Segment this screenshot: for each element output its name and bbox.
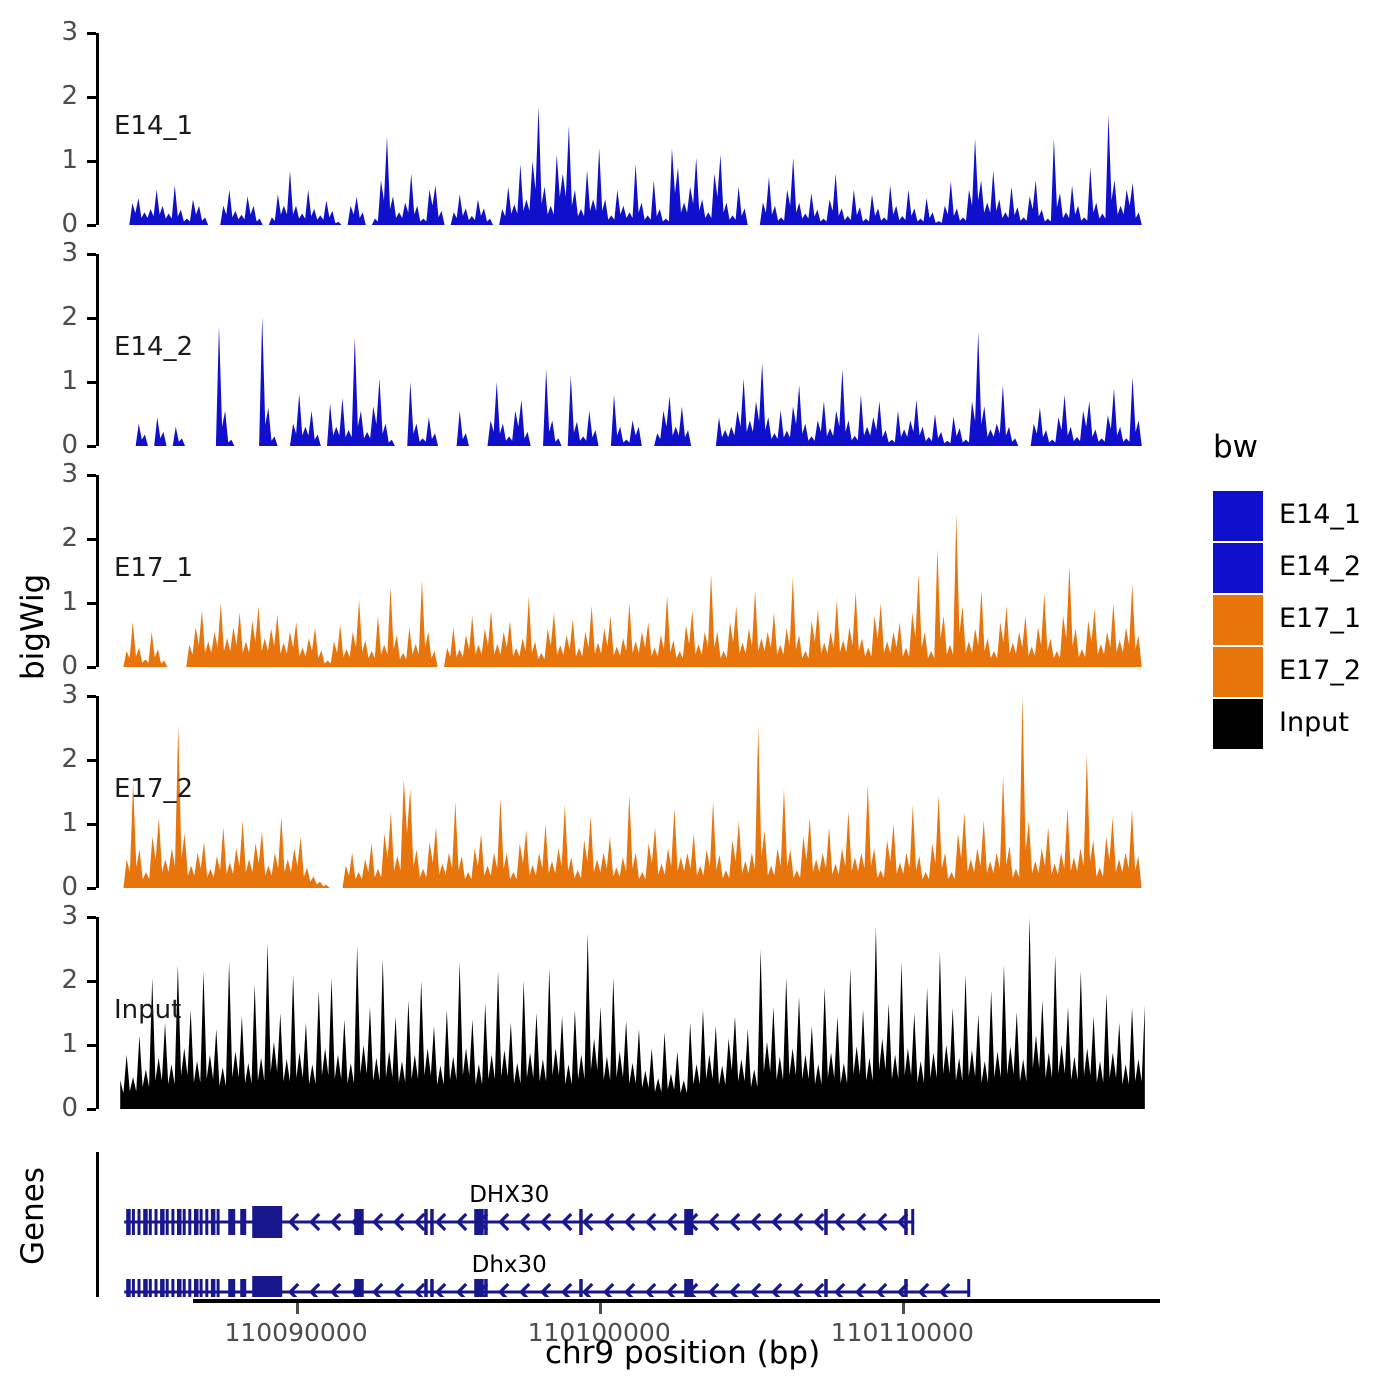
- y-axis-tick-label: 0: [38, 1095, 78, 1121]
- y-axis-tick-label: 1: [38, 147, 78, 173]
- y-axis-tick-label: 1: [38, 1031, 78, 1057]
- y-axis-tick-label: 1: [38, 368, 78, 394]
- signal-area-e17_1: [99, 475, 1160, 667]
- signal-area-e14_2: [99, 254, 1160, 446]
- gene-model-dhx30[interactable]: [124, 1276, 970, 1297]
- y-axis-tick-label: 3: [38, 903, 78, 929]
- y-axis-tick: [87, 916, 96, 919]
- x-axis-tick: [599, 1303, 602, 1314]
- track-label-e17_1: E17_1: [114, 555, 193, 581]
- legend-label: Input: [1279, 709, 1349, 736]
- y-axis-tick-label: 0: [38, 874, 78, 900]
- signal-area-e17_2: [99, 696, 1160, 888]
- y-axis-tick: [87, 980, 96, 983]
- y-axis-tick-label: 2: [38, 304, 78, 330]
- legend-label: E14_2: [1279, 553, 1361, 580]
- y-axis-tick: [87, 695, 96, 698]
- track-label-e14_1: E14_1: [114, 113, 193, 139]
- signal-area-input: [99, 917, 1160, 1109]
- y-axis-tick: [87, 1044, 96, 1047]
- y-axis-tick-label: 2: [38, 967, 78, 993]
- y-axis-tick-label: 3: [38, 682, 78, 708]
- y-axis-tick: [87, 1108, 96, 1111]
- legend-label: E14_1: [1279, 501, 1361, 528]
- y-axis-tick: [87, 96, 96, 99]
- legend-swatch-e17_2: [1213, 647, 1263, 697]
- y-axis-tick: [87, 823, 96, 826]
- y-axis-tick-label: 3: [38, 461, 78, 487]
- x-axis-title: chr9 position (bp): [545, 1338, 820, 1369]
- gene-label-dhx30: DHX30: [419, 1184, 599, 1207]
- y-axis-tick: [87, 666, 96, 669]
- y-axis-tick-label: 1: [38, 589, 78, 615]
- x-axis-tick: [296, 1303, 299, 1314]
- bigwig-panel-e17_1: [96, 475, 1160, 667]
- legend-swatch-e17_1: [1213, 595, 1263, 645]
- y-axis-tick-label: 0: [38, 653, 78, 679]
- gene-model-dhx30[interactable]: [124, 1206, 914, 1238]
- bigwig-panel-e14_1: [96, 33, 1160, 225]
- y-axis-tick-label: 1: [38, 810, 78, 836]
- signal-area-e14_1: [99, 33, 1160, 225]
- y-axis-tick-label: 3: [38, 19, 78, 45]
- y-axis-tick: [87, 32, 96, 35]
- x-axis-line: [193, 1299, 1160, 1303]
- legend-swatch-input: [1213, 699, 1263, 749]
- y-axis-tick-label: 2: [38, 83, 78, 109]
- legend-label: E17_2: [1279, 657, 1361, 684]
- x-axis-tick-label: 110110000: [812, 1320, 992, 1345]
- y-axis-tick: [87, 759, 96, 762]
- track-label-e17_2: E17_2: [114, 776, 193, 802]
- y-axis-tick: [87, 887, 96, 890]
- legend-swatch-e14_2: [1213, 543, 1263, 593]
- y-axis-tick: [87, 381, 96, 384]
- y-axis-tick: [87, 160, 96, 163]
- y-axis-tick: [87, 538, 96, 541]
- genes-panel: [96, 1152, 1160, 1297]
- gene-label-dhx30: Dhx30: [419, 1254, 599, 1277]
- legend-title: bw: [1213, 432, 1258, 463]
- y-axis-tick: [87, 602, 96, 605]
- bigwig-panel-e14_2: [96, 254, 1160, 446]
- bigwig-panel-input: [96, 917, 1160, 1109]
- legend-swatch-e14_1: [1213, 491, 1263, 541]
- y-axis-tick-label: 3: [38, 240, 78, 266]
- y-axis-tick-label: 2: [38, 746, 78, 772]
- y-axis-tick-label: 0: [38, 432, 78, 458]
- y-axis-tick: [87, 445, 96, 448]
- y-axis-title-genes: Genes: [18, 1167, 49, 1265]
- y-axis-tick: [87, 317, 96, 320]
- x-axis-tick: [902, 1303, 905, 1314]
- y-axis-tick: [87, 474, 96, 477]
- bigwig-panel-e17_2: [96, 696, 1160, 888]
- track-label-e14_2: E14_2: [114, 334, 193, 360]
- y-axis-tick: [87, 224, 96, 227]
- x-axis-tick-label: 110090000: [206, 1320, 386, 1345]
- y-axis-tick-label: 2: [38, 525, 78, 551]
- y-axis-tick: [87, 253, 96, 256]
- legend-label: E17_1: [1279, 605, 1361, 632]
- track-label-input: Input: [114, 997, 181, 1023]
- y-axis-tick-label: 0: [38, 211, 78, 237]
